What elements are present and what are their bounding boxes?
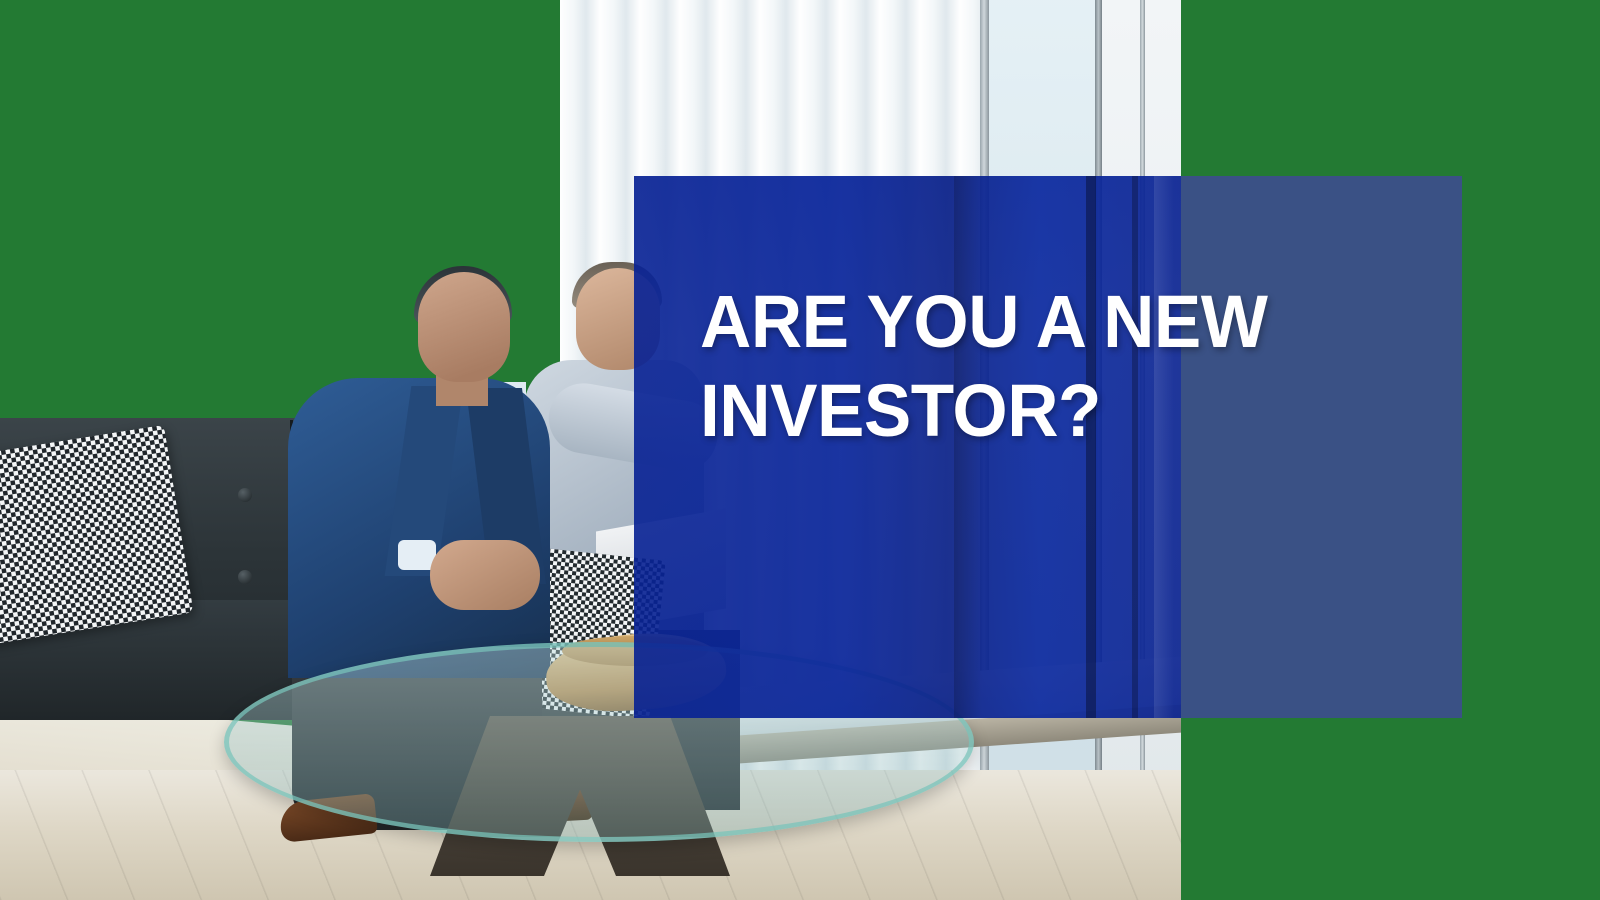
- page-title: Are you a new investor?: [700, 278, 1391, 456]
- sofa-tuft: [238, 488, 252, 502]
- person-1-head: [418, 272, 510, 382]
- person-1-clasped-hands: [430, 540, 540, 610]
- banner-stage: Are you a new investor?: [0, 0, 1600, 900]
- houndstooth-pillow-left: [0, 425, 194, 646]
- sofa-tuft: [238, 570, 252, 584]
